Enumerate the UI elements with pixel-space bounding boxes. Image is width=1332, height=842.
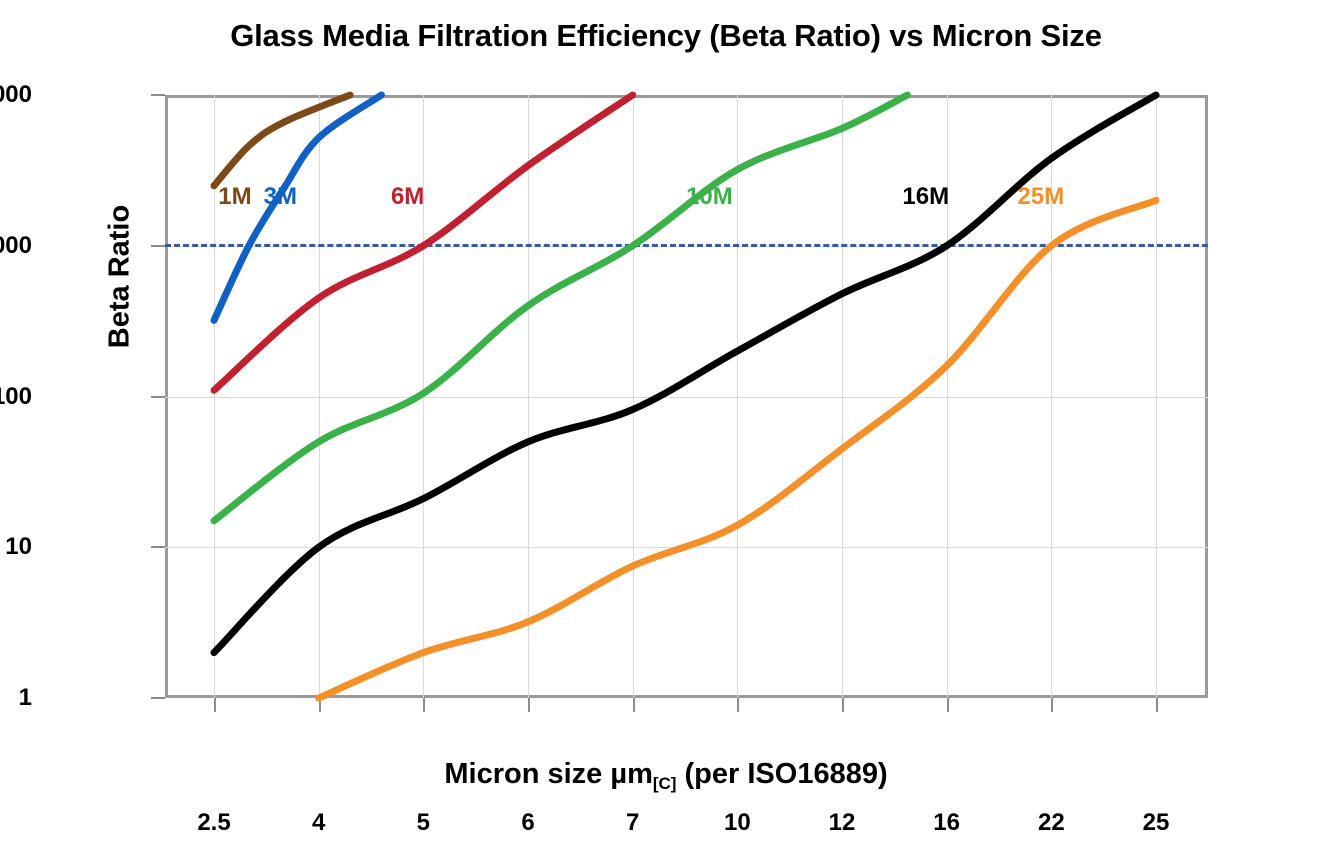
x-axis-tick-label: 16 [933, 809, 960, 837]
x-axis-tick-label: 7 [626, 809, 639, 837]
series-label-25M: 25M [1018, 183, 1065, 211]
x-axis-title-tail: (per ISO16889) [676, 758, 887, 790]
series-line-10M [214, 95, 907, 521]
y-axis-tick [151, 94, 165, 96]
x-axis-tick [842, 698, 844, 712]
x-axis-tick-label: 25 [1143, 809, 1170, 837]
x-axis-title: Micron size µm[C] (per ISO16889) [0, 758, 1332, 794]
series-label-6M: 6M [391, 183, 424, 211]
y-axis-tick-label: 1 [19, 684, 32, 712]
chart-title: Glass Media Filtration Efficiency (Beta … [0, 18, 1332, 54]
x-axis-tick [947, 698, 949, 712]
x-axis-tick-label: 5 [417, 809, 430, 837]
x-axis-tick [737, 698, 739, 712]
x-axis-tick-label: 2.5 [197, 809, 230, 837]
x-axis-tick [1156, 698, 1158, 712]
series-line-6M [214, 95, 633, 390]
series-line-1M [214, 95, 350, 186]
x-axis-tick [214, 698, 216, 712]
y-axis-tick [151, 245, 165, 247]
x-axis-tick-label: 22 [1038, 809, 1065, 837]
x-axis-tick-label: 12 [829, 809, 856, 837]
y-axis-tick-label: 10,000 [0, 81, 32, 109]
x-axis-title-main: Micron size µm [444, 758, 652, 790]
plot-area: 1101001,00010,000 2.545671012162225 1M3M… [165, 95, 1208, 698]
x-axis-tick [423, 698, 425, 712]
y-axis-tick [151, 546, 165, 548]
x-axis-tick [633, 698, 635, 712]
x-axis-tick-label: 4 [312, 809, 325, 837]
chart-page: Glass Media Filtration Efficiency (Beta … [0, 0, 1332, 842]
series-label-3M: 3M [264, 183, 297, 211]
series-label-16M: 16M [902, 183, 949, 211]
y-axis-tick-label: 100 [0, 383, 32, 411]
series-label-1M: 1M [218, 183, 251, 211]
series-label-10M: 10M [686, 183, 733, 211]
y-axis-tick [151, 697, 165, 699]
series-line-16M [214, 95, 1156, 653]
x-axis-tick-label: 6 [521, 809, 534, 837]
x-axis-tick [1051, 698, 1053, 712]
x-axis-title-subscript: [C] [653, 774, 677, 793]
series-line-25M [319, 200, 1156, 698]
y-axis-tick-label: 1,000 [0, 232, 32, 260]
y-axis-tick-label: 10 [5, 533, 32, 561]
y-axis-tick [151, 396, 165, 398]
x-axis-tick [528, 698, 530, 712]
x-axis-tick-label: 10 [724, 809, 751, 837]
y-axis-title: Beta Ratio [104, 147, 137, 407]
